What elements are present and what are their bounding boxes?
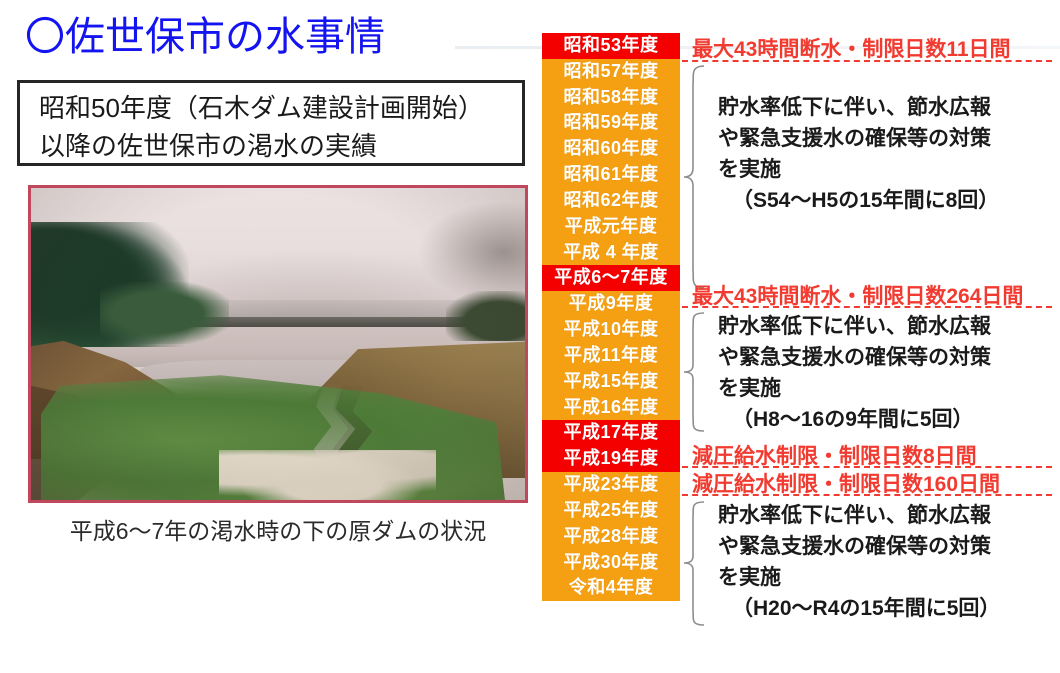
year-row: 昭和57年度 — [542, 59, 680, 85]
year-list: 昭和53年度 昭和57年度 昭和58年度 昭和59年度 昭和60年度 昭和61年… — [542, 33, 680, 601]
year-row: 平成30年度 — [542, 550, 680, 576]
group-1-note: （S54～H5の15年間に8回） — [718, 185, 999, 216]
year-row: 平成 4 年度 — [542, 240, 680, 266]
group-3-note: （H20～R4の15年間に5回） — [718, 593, 1000, 624]
annotation-red-1: 最大43時間断水・制限日数11日間 — [692, 33, 1011, 63]
group-2-line-3: を実施 — [718, 373, 991, 404]
year-row: 平成11年度 — [542, 343, 680, 369]
year-row: 昭和62年度 — [542, 188, 680, 214]
subtitle-text: 昭和50年度（石木ダム建設計画開始） 以降の佐世保市の渇水の実績 — [39, 89, 519, 165]
slide-canvas: 〇佐世保市の水事情 昭和50年度（石木ダム建設計画開始） 以降の佐世保市の渇水の… — [0, 0, 1060, 673]
year-row: 昭和53年度 — [542, 33, 680, 59]
divider-dashed-2 — [682, 306, 1052, 308]
divider-dashed-1 — [682, 60, 1052, 62]
year-row: 平成23年度 — [542, 472, 680, 498]
divider-dashed-4 — [682, 494, 1052, 496]
group-brace-2 — [682, 311, 708, 433]
subtitle-line-2: 以降の佐世保市の渇水の実績 — [39, 127, 519, 165]
photo-illustration — [31, 188, 525, 500]
year-row: 平成19年度 — [542, 446, 680, 472]
group-1-line-1: 貯水率低下に伴い、節水広報 — [718, 92, 999, 123]
year-row: 昭和58年度 — [542, 85, 680, 111]
year-row: 平成28年度 — [542, 524, 680, 550]
page-title: 〇佐世保市の水事情 — [25, 14, 385, 60]
group-3-line-3: を実施 — [718, 562, 1000, 593]
photo-caption: 平成6～7年の渇水時の下の原ダムの状況 — [28, 512, 528, 546]
year-row: 平成元年度 — [542, 214, 680, 240]
year-row: 平成17年度 — [542, 420, 680, 446]
photo-vignette — [31, 188, 525, 500]
group-text-1: 貯水率低下に伴い、節水広報 や緊急支援水の確保等の対策 を実施 （S54～H5の… — [718, 92, 999, 216]
subtitle-box: 昭和50年度（石木ダム建設計画開始） 以降の佐世保市の渇水の実績 — [17, 80, 525, 166]
year-row: 昭和60年度 — [542, 136, 680, 162]
group-1-line-3: を実施 — [718, 154, 999, 185]
group-2-note: （H8～16の9年間に5回） — [718, 404, 991, 435]
year-row: 平成10年度 — [542, 317, 680, 343]
year-row: 昭和61年度 — [542, 162, 680, 188]
group-brace-3 — [682, 500, 708, 627]
group-2-line-1: 貯水率低下に伴い、節水広報 — [718, 311, 991, 342]
group-1-line-2: や緊急支援水の確保等の対策 — [718, 123, 999, 154]
year-row: 令和4年度 — [542, 575, 680, 601]
year-row: 平成15年度 — [542, 369, 680, 395]
year-row: 昭和59年度 — [542, 110, 680, 136]
group-3-line-1: 貯水率低下に伴い、節水広報 — [718, 500, 1000, 531]
group-3-line-2: や緊急支援水の確保等の対策 — [718, 531, 1000, 562]
group-2-line-2: や緊急支援水の確保等の対策 — [718, 342, 991, 373]
year-row: 平成16年度 — [542, 395, 680, 421]
group-brace-1 — [682, 64, 708, 290]
year-row: 平成25年度 — [542, 498, 680, 524]
drought-photo — [28, 185, 528, 503]
subtitle-line-1: 昭和50年度（石木ダム建設計画開始） — [39, 89, 519, 127]
group-text-3: 貯水率低下に伴い、節水広報 や緊急支援水の確保等の対策 を実施 （H20～R4の… — [718, 500, 1000, 624]
year-row: 平成9年度 — [542, 291, 680, 317]
year-row: 平成6～7年度 — [542, 265, 680, 291]
group-text-2: 貯水率低下に伴い、節水広報 や緊急支援水の確保等の対策 を実施 （H8～16の9… — [718, 311, 991, 435]
